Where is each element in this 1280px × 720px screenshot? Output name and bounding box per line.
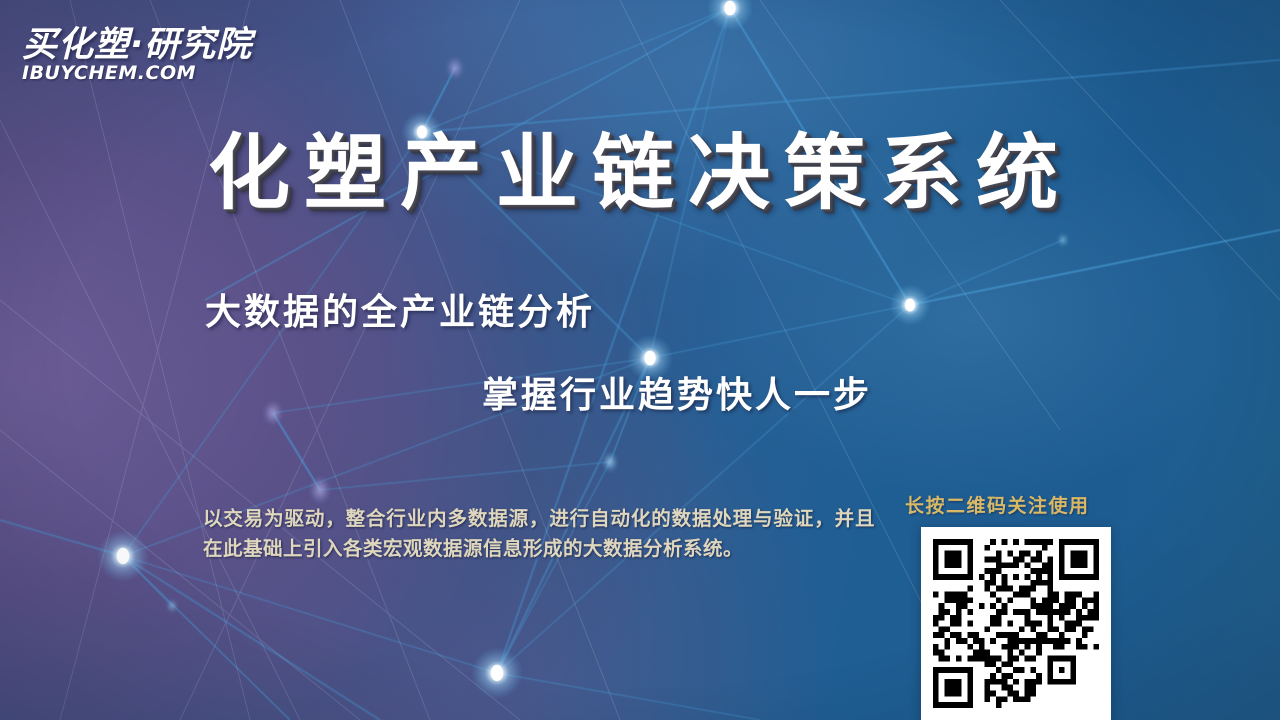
- page-title: 化塑产业链决策系统: [0, 133, 1280, 215]
- description-paragraph: 以交易为驱动，整合行业内多数据源，进行自动化的数据处理与验证，并且在此基础上引入…: [203, 504, 875, 563]
- subtitle-primary: 大数据的全产业链分析: [205, 283, 595, 335]
- subtitle-secondary: 掌握行业趋势快人一步: [482, 366, 872, 418]
- logo-name-cn: 买化塑·研究院: [22, 28, 322, 64]
- brand-logo[interactable]: 买化塑·研究院 IBUYCHEM.COM: [22, 28, 322, 84]
- qr-code-frame[interactable]: [921, 527, 1111, 720]
- qr-code-image: [933, 539, 1099, 708]
- promo-banner: 买化塑·研究院 IBUYCHEM.COM 化塑产业链决策系统 大数据的全产业链分…: [0, 0, 1280, 720]
- qr-caption: 长按二维码关注使用: [905, 491, 1090, 518]
- logo-name-en: IBUYCHEM.COM: [22, 62, 322, 84]
